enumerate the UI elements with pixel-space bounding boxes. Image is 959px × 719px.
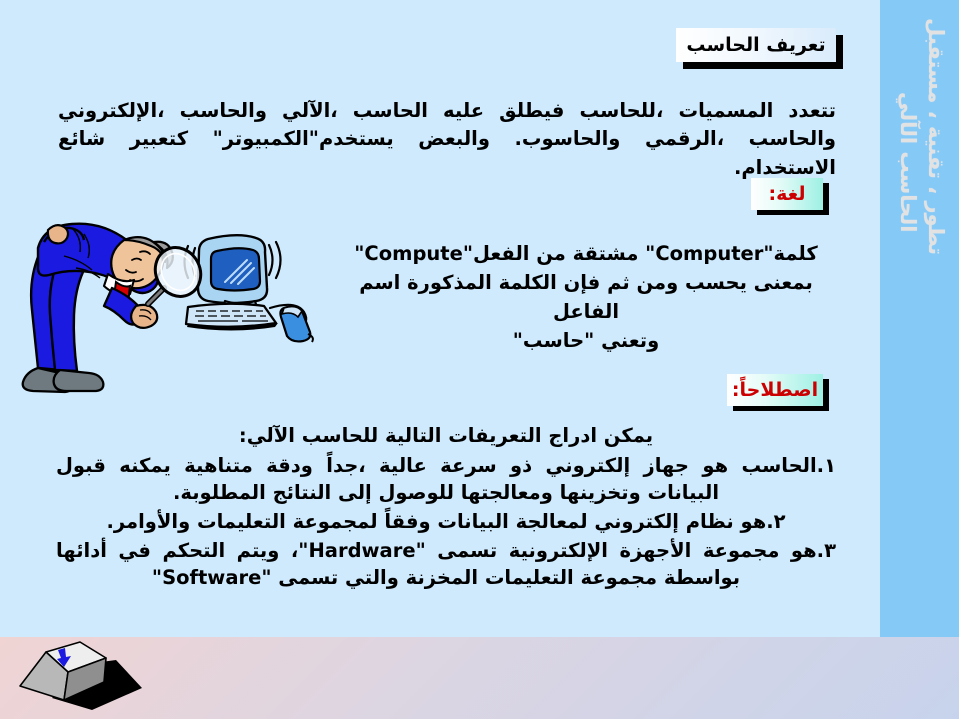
terminology-item-1: ١.الحاسب هو جهاز إلكتروني ذو سرعة عالية … [56,452,836,507]
slide-root: تطور ، تقنية ، مستقبل الحاسب الآلي تعريف… [0,0,959,719]
terminology-item-2: ٢.هو نظام إلكتروني لمعالجة البيانات وفقا… [56,508,836,536]
sidebar: تطور ، تقنية ، مستقبل الحاسب الآلي [880,0,959,637]
sidebar-vertical-text-group: تطور ، تقنية ، مستقبل الحاسب الآلي [880,0,959,340]
slide-title-banner: تعريف الحاسب [676,28,836,62]
language-line-3: وتعني "حاسب" [336,327,836,356]
sidebar-vertical-title-secondary: الحاسب الآلي [896,92,920,232]
terminology-lead-line: يمكن ادراج التعريفات التالية للحاسب الآل… [56,422,836,450]
illustration-man-with-magnifier-icon [12,212,342,404]
page-title: تعريف الحاسب [686,34,825,56]
language-line-1: كلمة"Computer" مشتقة من الفعل"Compute" [336,240,836,269]
section-heading-label-terminology: اصطلاحاً: [732,379,818,401]
intro-paragraph: تتعدد المسميات ،للحاسب فيطلق عليه الحاسب… [58,97,836,182]
terminology-section-body: يمكن ادراج التعريفات التالية للحاسب الآل… [56,422,836,593]
terminology-item-3: ٣.هو مجموعة الأجهزة الإلكترونية تسمى "Ha… [56,537,836,592]
section-heading-label-language: لغة: [769,183,806,205]
keyboard-keycap-icon [8,630,158,716]
section-heading-chip-language: لغة: [751,178,823,210]
section-heading-chip-terminology: اصطلاحاً: [727,374,823,406]
language-section-body: كلمة"Computer" مشتقة من الفعل"Compute" ب… [336,240,836,355]
language-line-2: بمعنى يحسب ومن ثم فإن الكلمة المذكورة اس… [336,269,836,327]
sidebar-vertical-title-primary: تطور ، تقنية ، مستقبل [924,18,948,255]
